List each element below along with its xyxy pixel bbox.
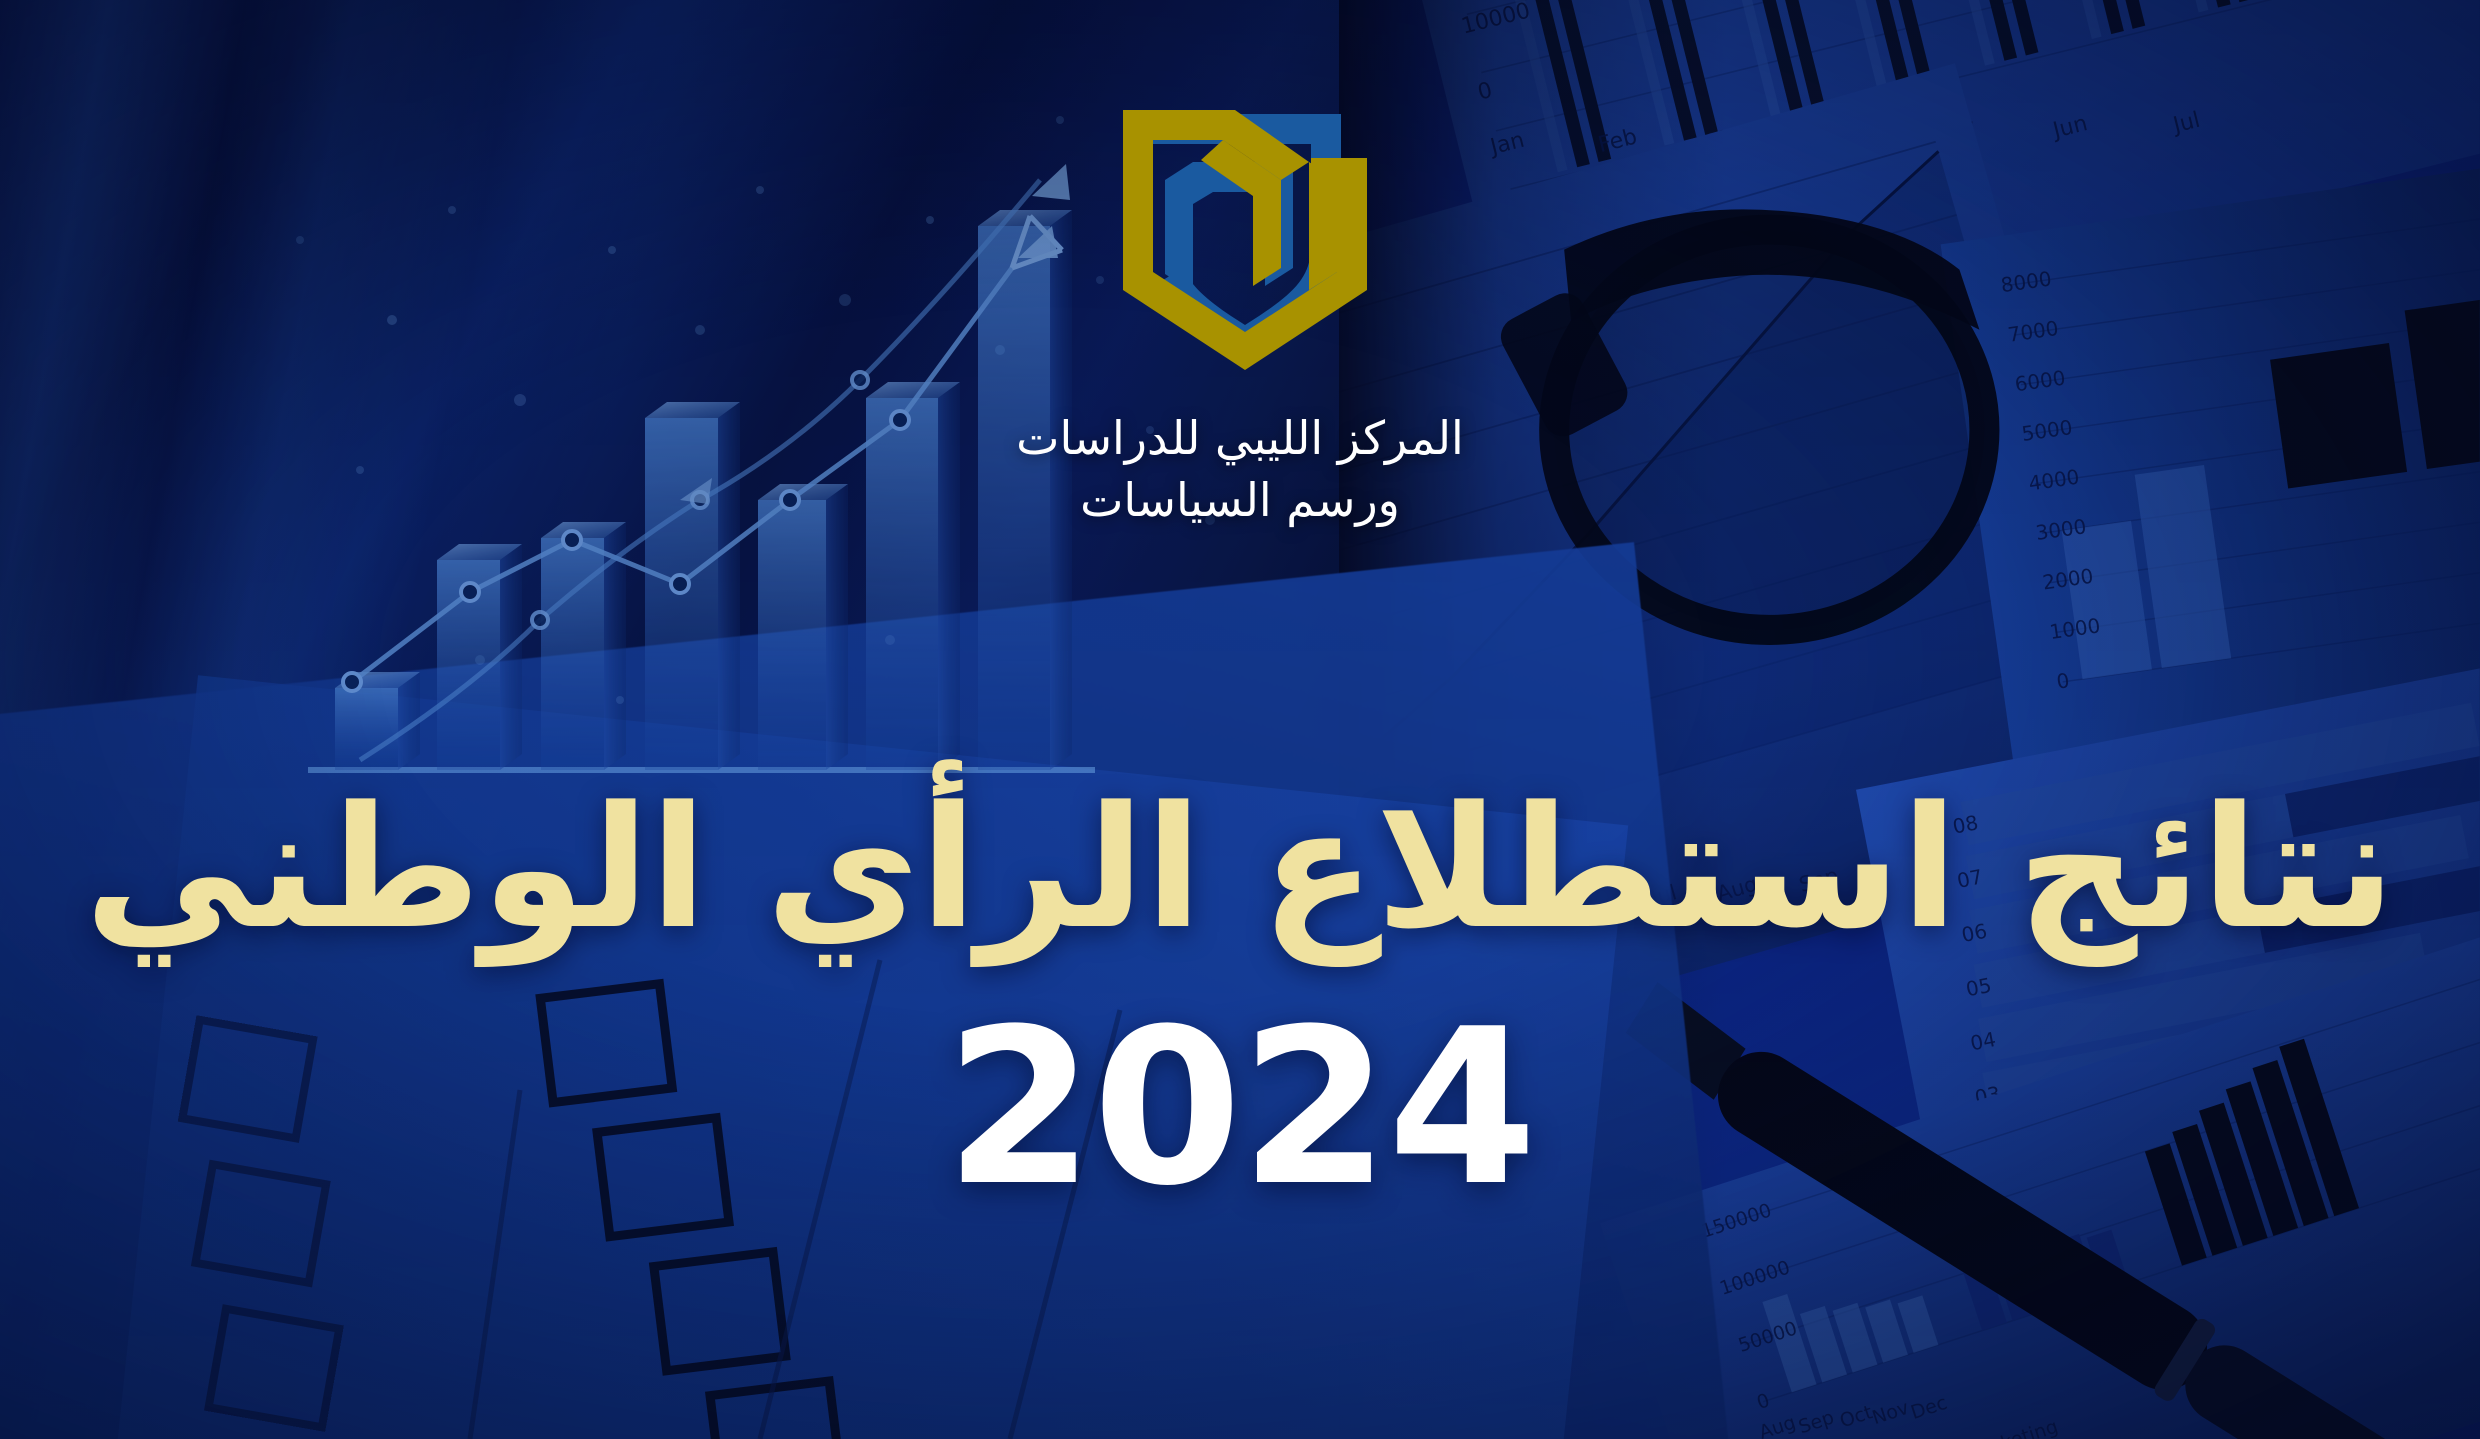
year-label: 2024 bbox=[0, 1000, 2480, 1215]
organization-name-line-1: المركز الليبي للدراسات bbox=[750, 408, 1730, 470]
page-title: نتائج استطلاع الرأي الوطني bbox=[0, 780, 2480, 956]
brand-block: المركز الليبي للدراسات ورسم السياسات bbox=[750, 96, 1730, 531]
hexagon-shield-logo-icon bbox=[1105, 96, 1375, 386]
poster-content: المركز الليبي للدراسات ورسم السياسات نتا… bbox=[0, 0, 2480, 1439]
poster-canvas: 10000 0 JanFebMar AprMayJun Jul bbox=[0, 0, 2480, 1439]
organization-name: المركز الليبي للدراسات ورسم السياسات bbox=[750, 408, 1730, 531]
organization-name-line-2: ورسم السياسات bbox=[750, 470, 1730, 532]
